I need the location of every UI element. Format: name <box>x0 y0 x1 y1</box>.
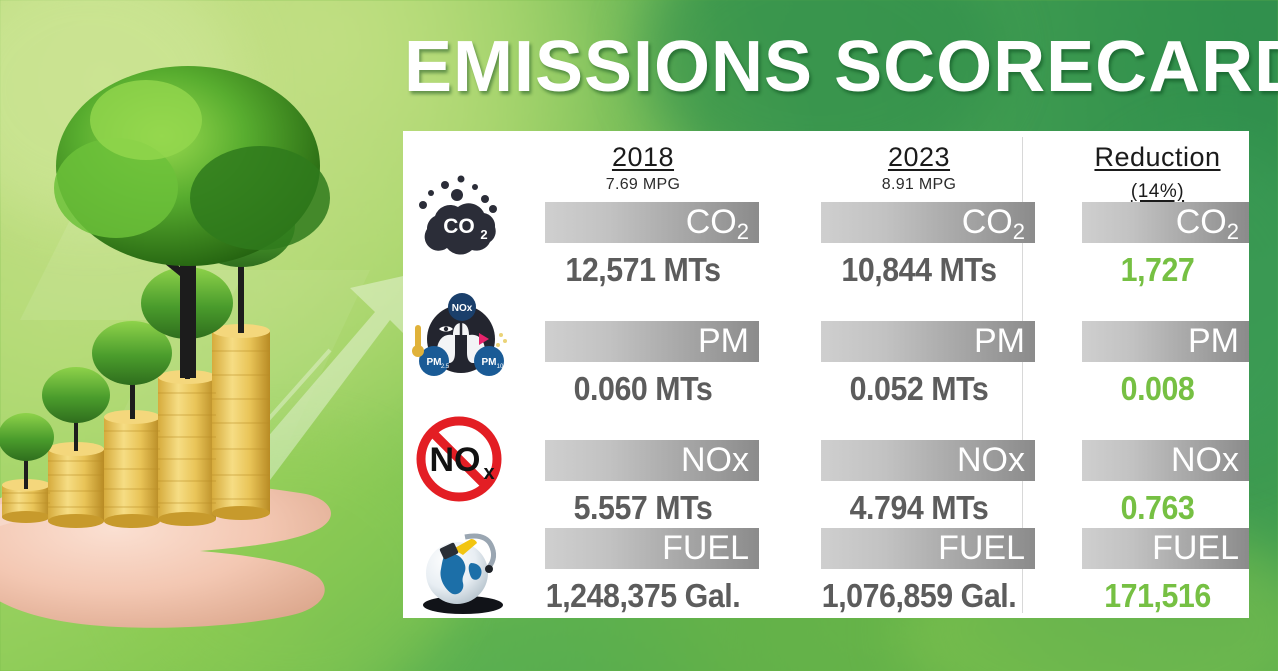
value-pm-reduction: 0.008 <box>1073 368 1241 410</box>
value-nox-reduction: 0.763 <box>1073 487 1241 529</box>
value-pm-2023: 0.052 MTs <box>799 368 1038 410</box>
bar-fuel-2018: FUEL <box>545 528 759 569</box>
column-2023: 2023 8.91 MPG CO2 10,844 MTs PM 0.052 MT… <box>789 131 1049 618</box>
value-co2-reduction: 1,727 <box>1073 249 1241 291</box>
co2-cloud-icon: CO 2 <box>405 169 513 269</box>
bar-nox-2018: NOx <box>545 440 759 481</box>
bar-nox-reduction: NOx <box>1082 440 1249 481</box>
column-2018: 2018 7.69 MPG CO2 12,571 MTs PM 0.060 MT… <box>513 131 773 618</box>
infographic-stage: EMISSIONS SCORECARD CO 2 <box>0 0 1278 671</box>
value-co2-2018: 12,571 MTs <box>523 249 762 291</box>
svg-text:x: x <box>483 462 494 484</box>
bar-co2-reduction: CO2 <box>1082 202 1249 243</box>
fuel-globe-icon <box>405 519 513 619</box>
value-fuel-reduction: 171,516 <box>1073 575 1241 617</box>
svg-text:NOx: NOx <box>452 303 473 314</box>
value-pm-2018: 0.060 MTs <box>523 368 762 410</box>
svg-text:CO: CO <box>443 215 475 238</box>
icon-column: CO 2 PM 2.5 PM 10 <box>405 147 513 617</box>
bar-co2-2018: CO2 <box>545 202 759 243</box>
bar-fuel-2023: FUEL <box>821 528 1035 569</box>
no-nox-icon: NO x <box>405 409 513 509</box>
value-fuel-2018: 1,248,375 Gal. <box>523 575 762 617</box>
column-2018-title: 2018 <box>612 142 674 172</box>
column-2023-title: 2023 <box>888 142 950 172</box>
column-reduction-percent: (14%) <box>1131 181 1184 202</box>
bar-nox-2023: NOx <box>821 440 1035 481</box>
bar-pm-reduction: PM <box>1082 321 1249 362</box>
column-2018-subtitle: 7.69 MPG <box>513 176 773 194</box>
bar-fuel-reduction: FUEL <box>1082 528 1249 569</box>
page-title: EMISSIONS SCORECARD <box>404 24 1264 110</box>
svg-text:10: 10 <box>497 364 504 370</box>
bar-pm-2018: PM <box>545 321 759 362</box>
svg-text:PM: PM <box>482 357 497 368</box>
scorecard-card: CO 2 PM 2.5 PM 10 <box>403 131 1249 618</box>
svg-text:2.5: 2.5 <box>441 364 450 370</box>
column-2018-header: 2018 7.69 MPG <box>513 142 773 194</box>
particulate-matter-icon: PM 2.5 PM 10 NOx <box>405 289 513 389</box>
large-tree-graphic <box>28 48 358 378</box>
bar-pm-2023: PM <box>821 321 1035 362</box>
svg-text:2: 2 <box>480 227 487 242</box>
value-nox-2023: 4.794 MTs <box>799 487 1038 529</box>
column-reduction-title: Reduction <box>1094 142 1220 172</box>
bar-co2-2023: CO2 <box>821 202 1035 243</box>
value-co2-2023: 10,844 MTs <box>799 249 1038 291</box>
column-reduction: Reduction (14%) (metric tons) CO2 1,727 … <box>1066 131 1249 618</box>
column-2023-header: 2023 8.91 MPG <box>789 142 1049 194</box>
svg-text:PM: PM <box>427 357 442 368</box>
svg-text:NO: NO <box>430 441 481 479</box>
column-2023-subtitle: 8.91 MPG <box>789 176 1049 194</box>
columns-container: 2018 7.69 MPG CO2 12,571 MTs PM 0.060 MT… <box>513 131 1249 618</box>
value-fuel-2023: 1,076,859 Gal. <box>799 575 1038 617</box>
value-nox-2018: 5.557 MTs <box>523 487 762 529</box>
